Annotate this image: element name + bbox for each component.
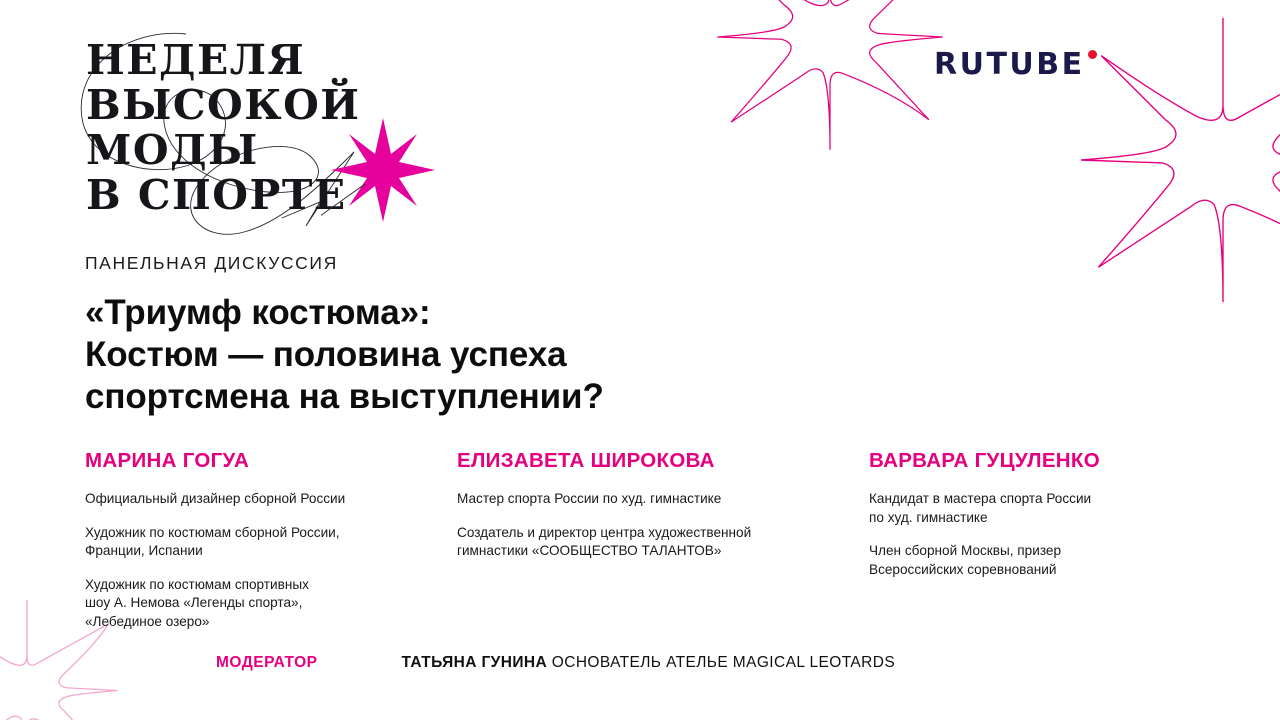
speaker-bio-line: Официальный дизайнер сборной России	[85, 490, 457, 509]
moderator-label: МОДЕРАТОР	[216, 654, 318, 672]
rutube-wordmark: RUTUBE	[934, 50, 1085, 80]
speaker-bio-line: Кандидат в мастера спорта России по худ.…	[869, 490, 1195, 527]
dot-icon	[1088, 50, 1097, 59]
rutube-logo[interactable]: RUTUBE	[934, 50, 1097, 80]
moderator-name: ТАТЬЯНА ГУНИНА	[402, 654, 548, 671]
speaker-bio-line: Мастер спорта России по худ. гимнастике	[457, 490, 869, 509]
moderator-person: ТАТЬЯНА ГУНИНА ОСНОВАТЕЛЬ АТЕЛЬЕ MAGICAL…	[402, 654, 896, 672]
speakers-list: МАРИНА ГОГУА Официальный дизайнер сборно…	[85, 448, 1195, 631]
moderator-role: ОСНОВАТЕЛЬ АТЕЛЬЕ MAGICAL LEOTARDS	[547, 654, 895, 671]
speaker-bio-line: Художник по костюмам сборной России, Фра…	[85, 524, 457, 561]
speaker-bio-line: Художник по костюмам спортивных шоу А. Н…	[85, 576, 457, 632]
speaker-name: ЕЛИЗАВЕТА ШИРОКОВА	[457, 448, 869, 474]
speaker-card: МАРИНА ГОГУА Официальный дизайнер сборно…	[85, 448, 457, 631]
sparkle-icon	[321, 108, 441, 228]
poster-canvas: НЕДЕЛЯ ВЫСОКОЙ МОДЫ В СПОРТЕ RUTUBE ПАНЕ…	[0, 0, 1280, 720]
page-title: «Триумф костюма»: Костюм — половина успе…	[85, 292, 865, 418]
brand-wordmark: НЕДЕЛЯ ВЫСОКОЙ МОДЫ В СПОРТЕ	[86, 38, 361, 218]
speaker-bio-line: Член сборной Москвы, призер Всероссийски…	[869, 542, 1195, 579]
star-outline-icon	[1078, 0, 1280, 360]
headline-block: ПАНЕЛЬНАЯ ДИСКУССИЯ «Триумф костюма»: Ко…	[85, 252, 865, 418]
moderator-row: МОДЕРАТОР ТАТЬЯНА ГУНИНА ОСНОВАТЕЛЬ АТЕЛ…	[216, 654, 895, 672]
speaker-bio-line: Создатель и директор центра художественн…	[457, 524, 869, 561]
speaker-card: ЕЛИЗАВЕТА ШИРОКОВА Мастер спорта России …	[457, 448, 869, 631]
star-outline-icon	[690, 0, 970, 152]
speaker-name: МАРИНА ГОГУА	[85, 448, 457, 474]
speaker-card: ВАРВАРА ГУЦУЛЕНКО Кандидат в мастера спо…	[869, 448, 1195, 631]
eyebrow-label: ПАНЕЛЬНАЯ ДИСКУССИЯ	[85, 252, 865, 274]
speaker-name: ВАРВАРА ГУЦУЛЕНКО	[869, 448, 1195, 474]
brand-lockup: НЕДЕЛЯ ВЫСОКОЙ МОДЫ В СПОРТЕ	[68, 26, 448, 241]
